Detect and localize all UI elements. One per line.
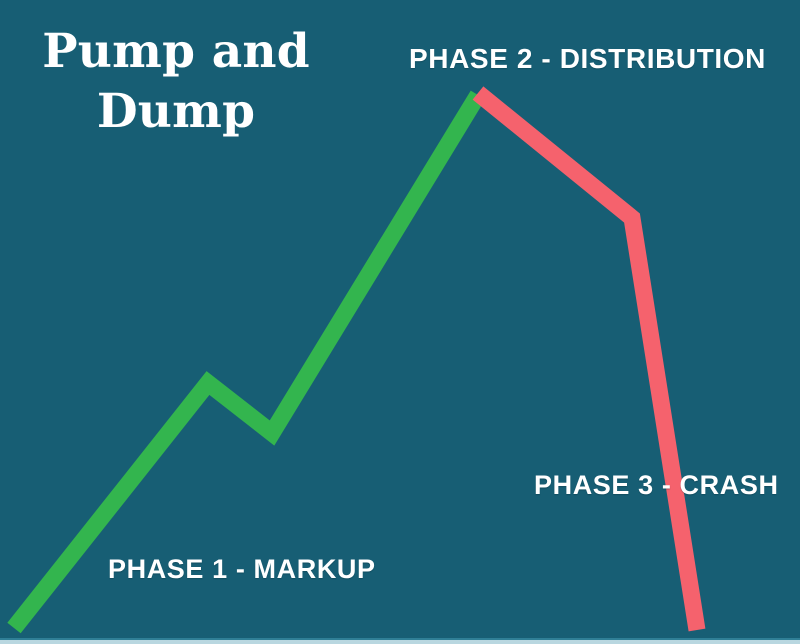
- page-title: Pump and Dump: [26, 22, 326, 142]
- markup-line-green: [14, 95, 478, 628]
- phase-1-label: PHASE 1 - MARKUP: [108, 554, 376, 585]
- page-title-line-1: Pump and: [26, 22, 326, 82]
- bottom-strip: [0, 640, 800, 644]
- phase-2-label: PHASE 2 - DISTRIBUTION: [409, 43, 766, 75]
- page-title-line-2: Dump: [26, 82, 326, 142]
- pump-and-dump-infographic: Pump and Dump PHASE 2 - DISTRIBUTION PHA…: [0, 0, 800, 644]
- phase-3-label: PHASE 3 - CRASH: [534, 470, 779, 501]
- distribution-crash-line-red: [478, 93, 697, 630]
